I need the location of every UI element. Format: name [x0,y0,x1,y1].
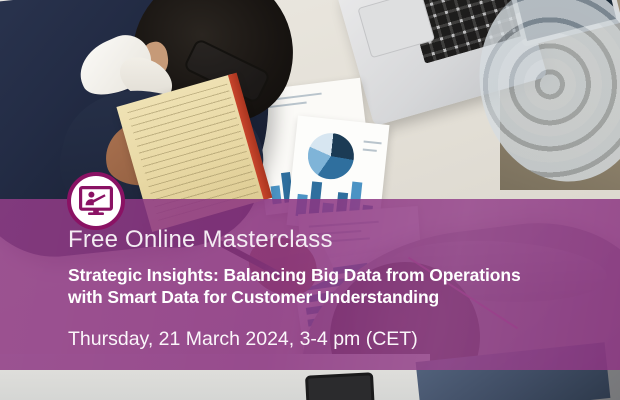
promo-banner-image: Free Online Masterclass Strategic Insigh… [0,0,620,400]
smartphone [305,372,375,400]
banner-text-block: Free Online Masterclass Strategic Insigh… [68,225,608,352]
webinar-icon-badge [67,172,125,230]
banner-kicker: Free Online Masterclass [68,225,608,255]
banner-headline: Strategic Insights: Balancing Big Data f… [68,264,608,308]
banner-headline-line-1: Strategic Insights: Balancing Big Data f… [68,264,608,286]
webinar-presentation-icon [79,186,113,216]
banner-datetime: Thursday, 21 March 2024, 3-4 pm (CET) [68,326,608,352]
banner-headline-line-2: with Smart Data for Customer Understandi… [68,286,608,308]
